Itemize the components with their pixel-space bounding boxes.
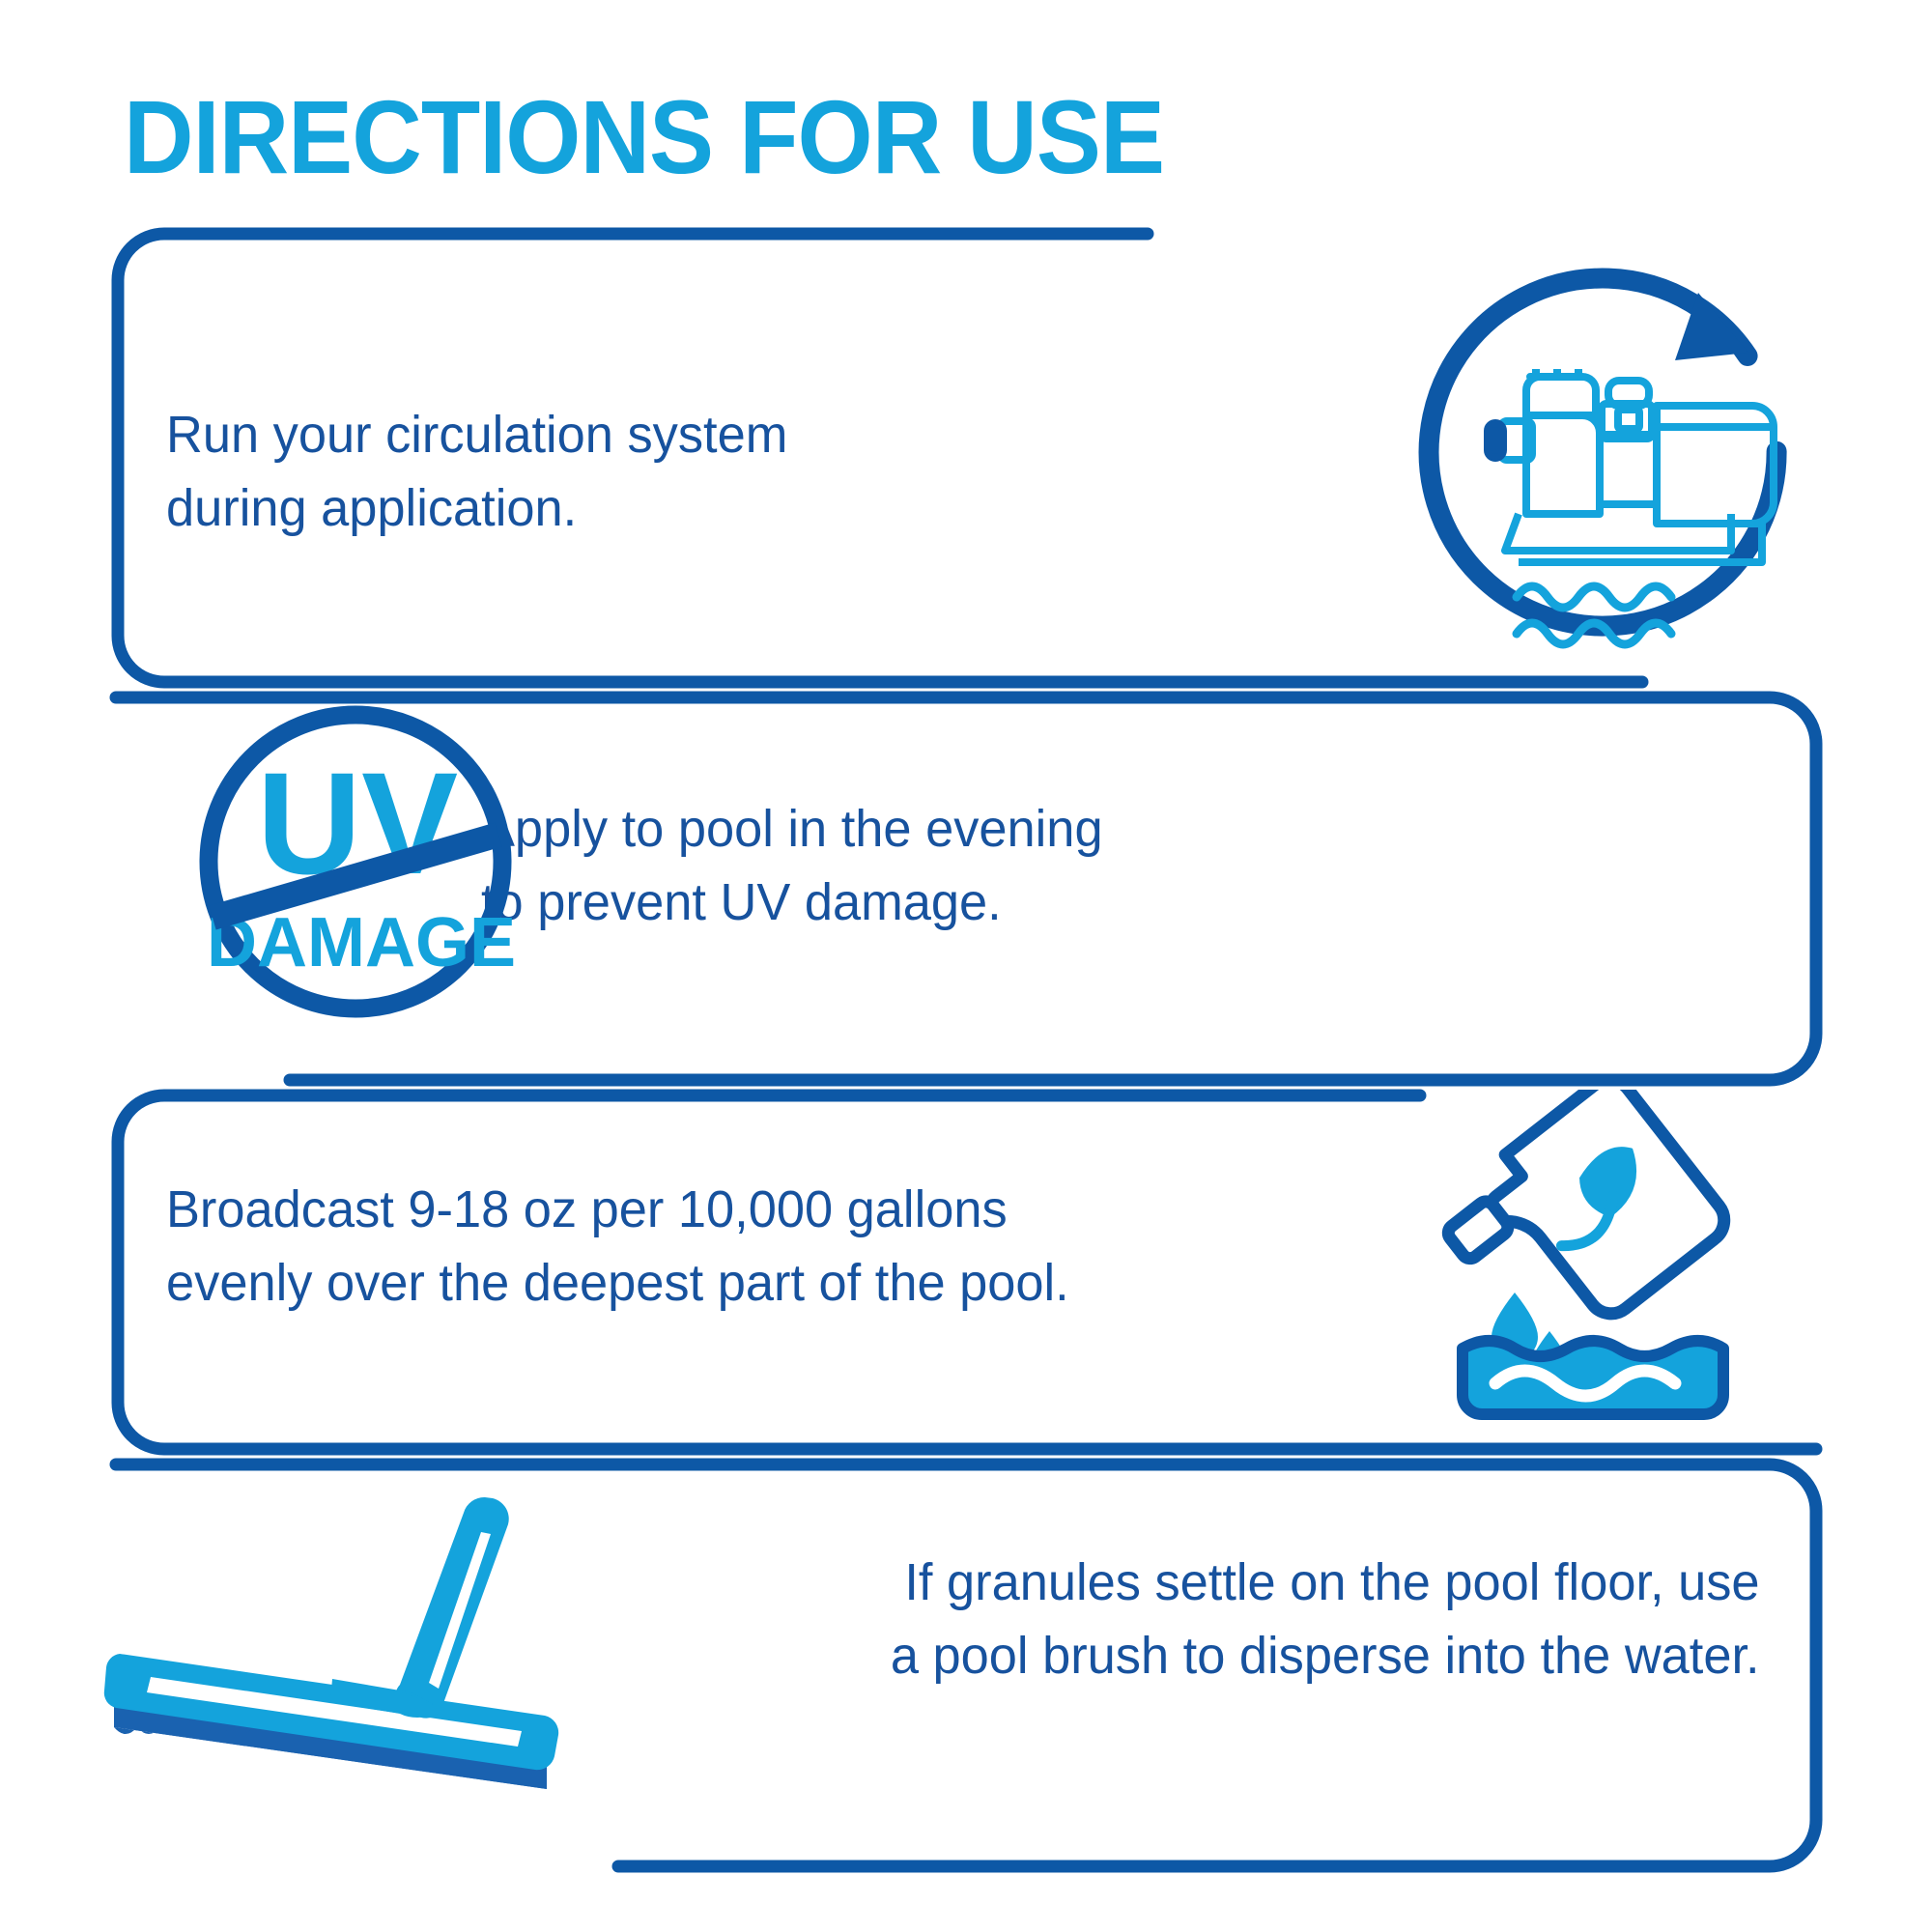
- step-3-text: Broadcast 9-18 oz per 10,000 gallons eve…: [166, 1173, 1069, 1320]
- pool-brush-icon: [93, 1478, 595, 1884]
- step-2-text: Apply to pool in the evening to prevent …: [481, 792, 1103, 939]
- circulation-pump-icon: [1412, 261, 1828, 676]
- step-4-text: If granules settle on the pool floor, us…: [891, 1546, 1760, 1692]
- no-uv-damage-icon: UV DAMAGE: [191, 697, 520, 1026]
- pouring-bottle-icon: [1432, 1090, 1779, 1428]
- step-1-text: Run your circulation system during appli…: [166, 398, 787, 545]
- infographic-canvas: DIRECTIONS FOR USE Run your circulation …: [0, 0, 1932, 1932]
